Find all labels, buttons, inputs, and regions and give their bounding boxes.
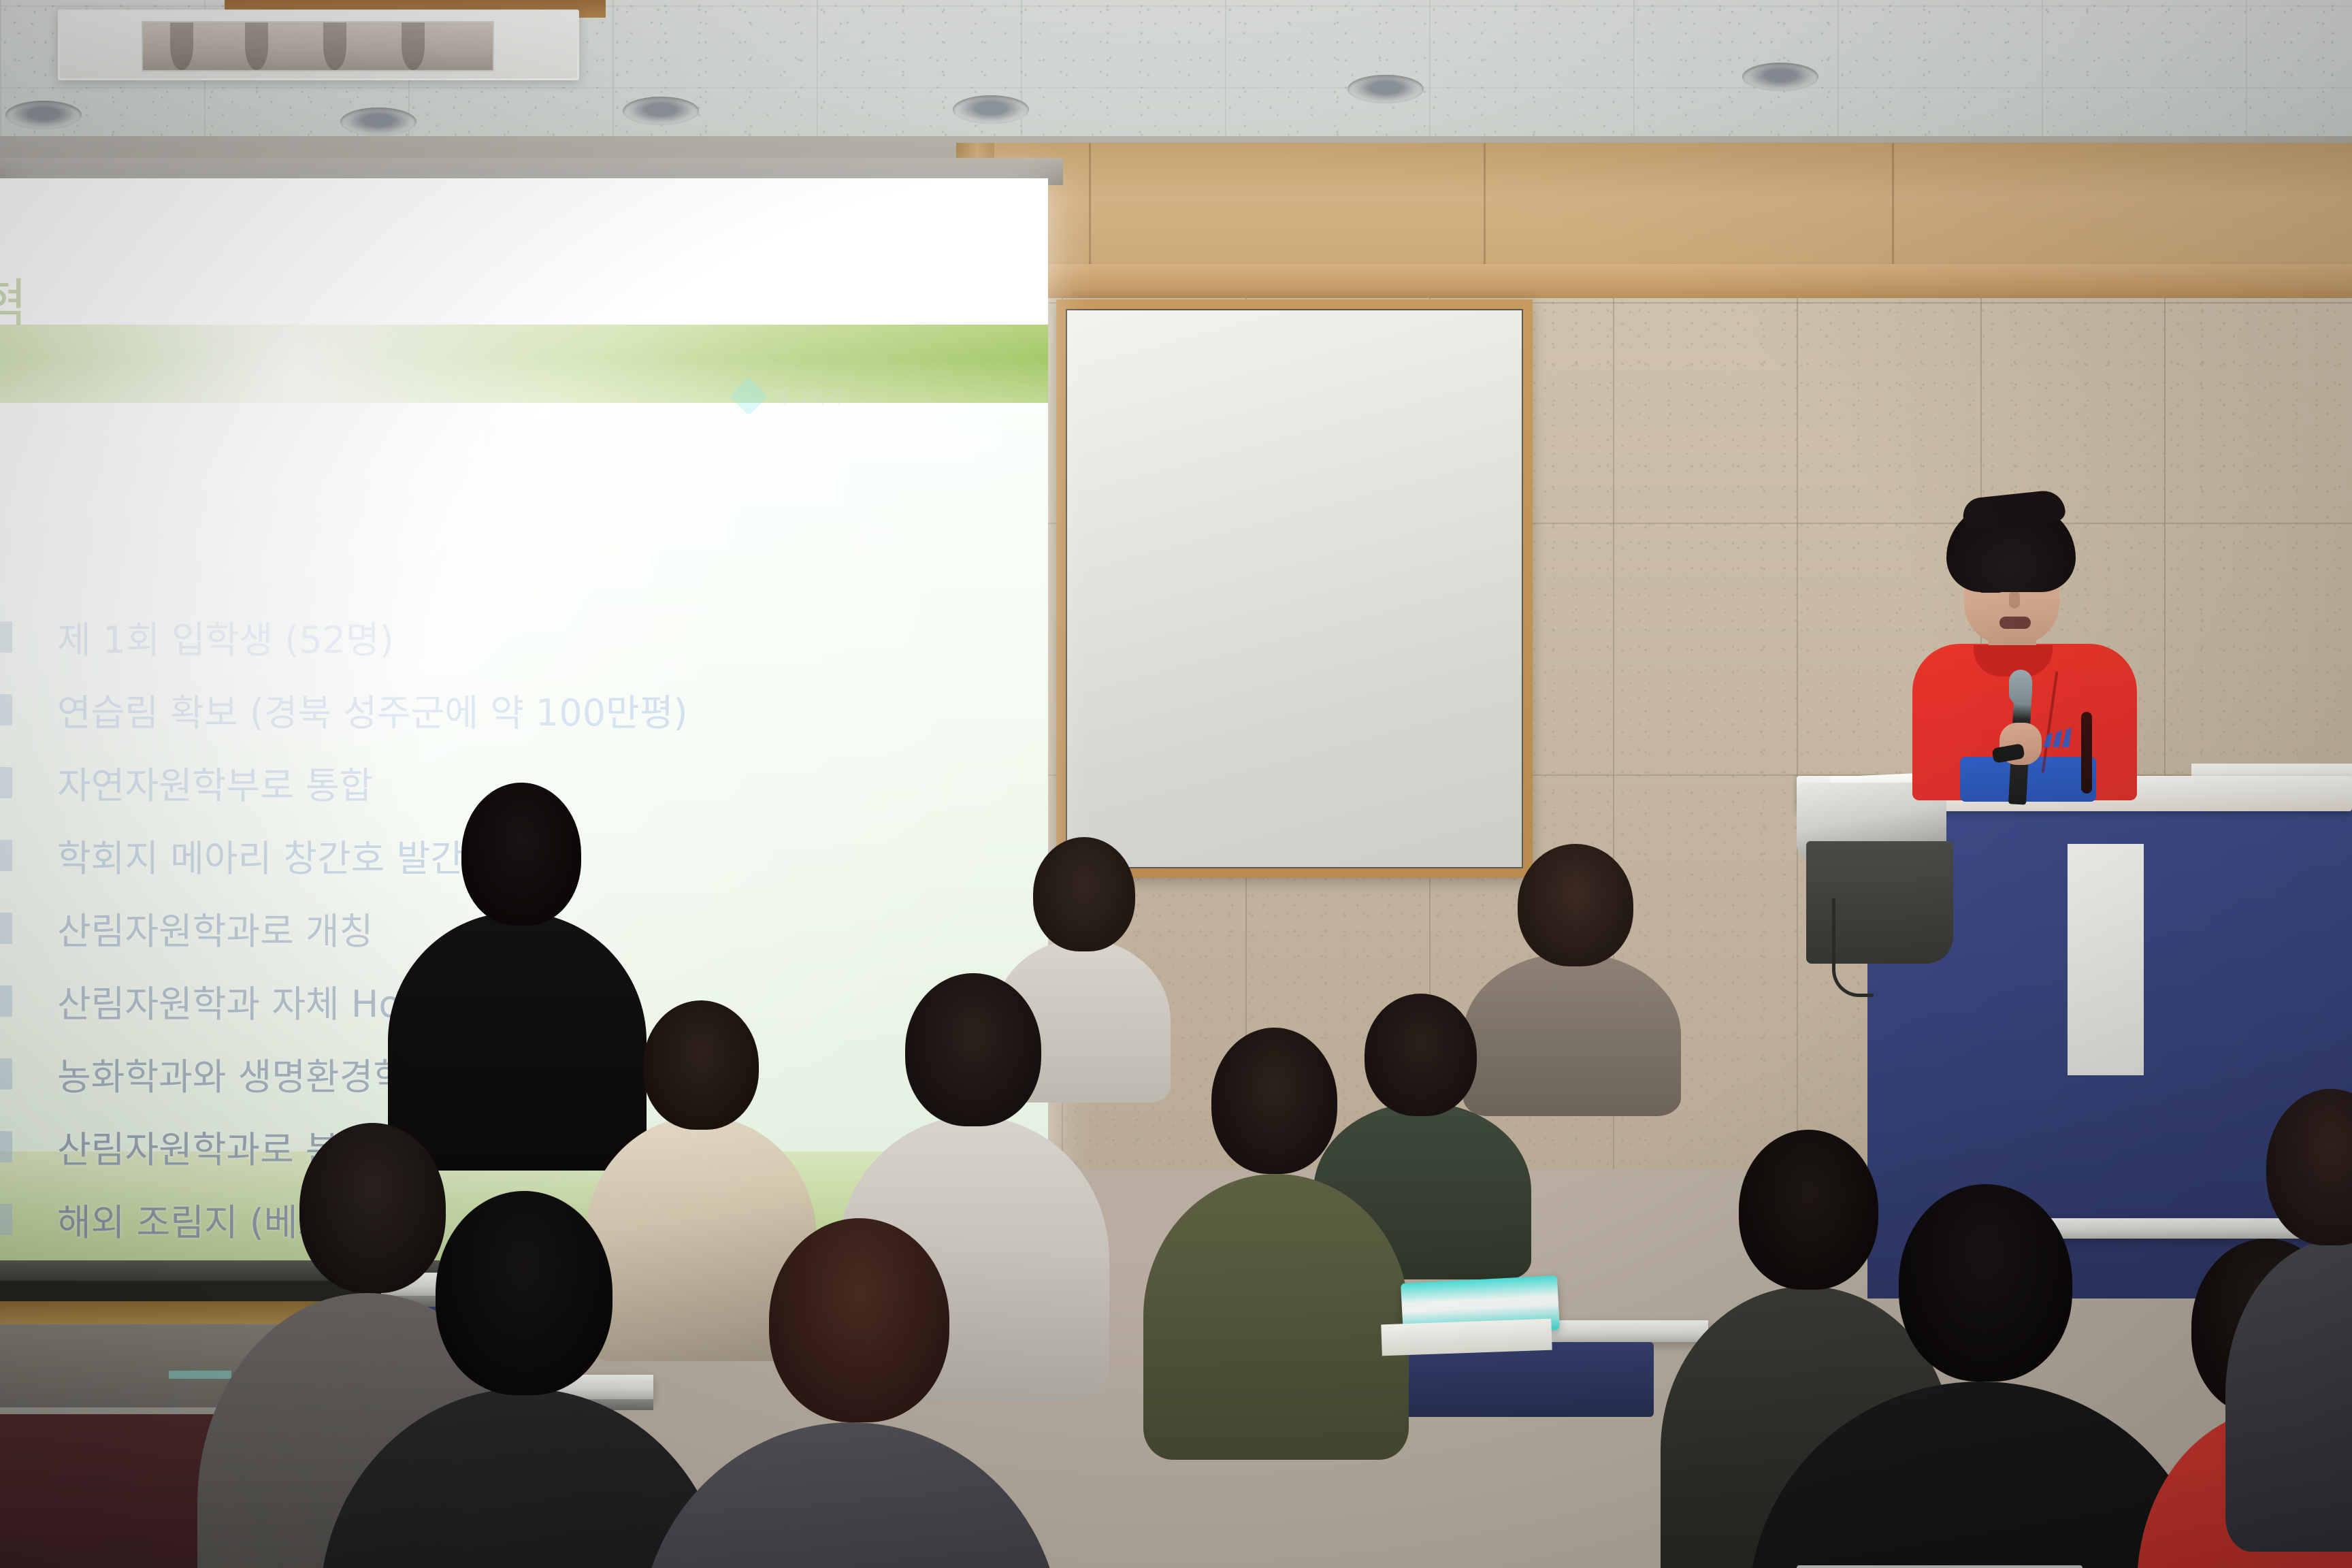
slide-bullet-text: 자연자원학부로 통합 (57, 755, 373, 809)
audience (0, 803, 2352, 1568)
avatar (643, 1000, 759, 1130)
slide-bullet-text: 연습림 확보 (경북 성주군에 약 100만평) (57, 683, 688, 736)
microphone-head-icon (2009, 670, 2032, 705)
list-item (1484, 844, 1661, 1075)
slide-header-band (0, 178, 1048, 325)
slide-bullet-text: 제 1회 입학생 (52명) (57, 610, 394, 664)
avatar (1365, 994, 1477, 1116)
downlight-icon (953, 95, 1029, 124)
bullet-marker-icon (0, 767, 12, 798)
avatar (461, 783, 581, 926)
downlight-icon (1347, 75, 1424, 103)
wood-rail-trim (994, 264, 2352, 299)
list-item (1837, 1184, 2123, 1568)
bullet-marker-icon (0, 694, 12, 725)
list-item (395, 1191, 653, 1568)
adidas-logo-icon (2042, 728, 2073, 749)
downlight-icon (5, 101, 82, 129)
presenter (1878, 504, 2164, 789)
avatar (769, 1218, 949, 1422)
white-paper (1381, 1319, 1552, 1356)
slide-bullet-row: 제 1회 입학생 (52명) (0, 600, 1048, 673)
bullet-marker-icon (0, 621, 12, 653)
avatar (1899, 1184, 2072, 1382)
slide-title: 혁 (0, 261, 29, 336)
avatar (2266, 1089, 2352, 1245)
downlight-icon (1742, 63, 1818, 91)
list-item (1171, 1028, 1375, 1341)
presenter-mouth (1999, 617, 2031, 629)
list-item (721, 1218, 980, 1568)
list-item (429, 783, 606, 1068)
avatar (905, 973, 1041, 1126)
slide-logo: 제 그리기 (735, 382, 842, 410)
upper-wood-panel (994, 143, 2352, 279)
downlight-icon (340, 108, 416, 136)
avatar (1518, 844, 1633, 966)
avatar (1211, 1028, 1337, 1174)
slide-green-divider (0, 325, 1048, 403)
downlight-icon (623, 97, 699, 125)
lecture-hall-photo: 혁 제 그리기 제 1회 입학생 (52명) 연습림 확보 (경북 성주군에 약… (0, 0, 2352, 1568)
diamond-logo-icon (730, 377, 768, 416)
avatar (1033, 837, 1135, 951)
list-item (2246, 1089, 2352, 1443)
light-lens (142, 21, 494, 71)
whiteboard-surface[interactable] (1066, 309, 1523, 868)
linear-light-fixture (58, 10, 579, 80)
jacket-logo-band (1797, 1565, 2082, 1568)
slide-logo-text: 제 그리기 (772, 384, 842, 409)
slide-bullet-row: 연습림 확보 (경북 성주군에 약 100만평) (0, 673, 1048, 746)
jacket-sleeve-zip (2081, 712, 2092, 794)
avatar (436, 1191, 612, 1395)
whiteboard-frame (1056, 299, 1533, 878)
presenter-hair (1946, 504, 2076, 592)
